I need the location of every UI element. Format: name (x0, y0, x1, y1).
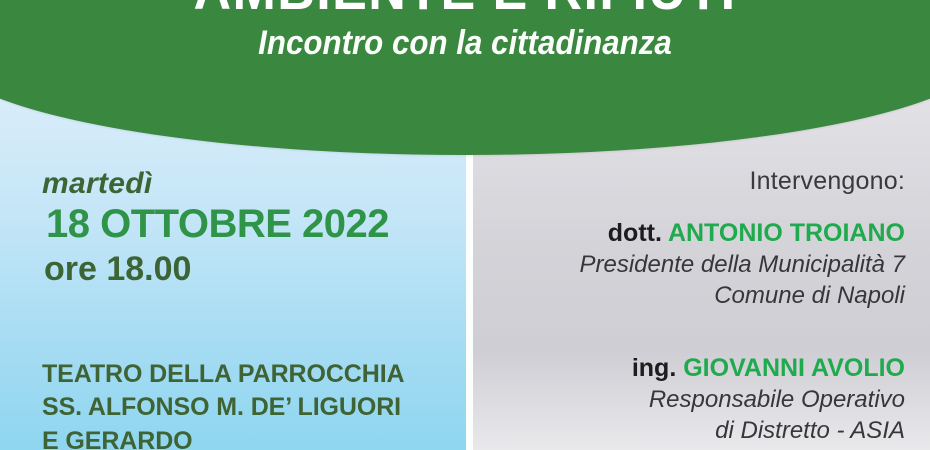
speaker-1-name-line: dott. ANTONIO TROIANO (480, 218, 905, 248)
poster-canvas: AMBIENTE E RIFIUTI Incontro con la citta… (0, 0, 930, 450)
speaker-2-name: GIOVANNI AVOLIO (683, 354, 905, 382)
green-header-banner: AMBIENTE E RIFIUTI Incontro con la citta… (0, 0, 930, 155)
speaker-1-prefix: dott. (608, 219, 662, 247)
poster-title: AMBIENTE E RIFIUTI (33, 0, 898, 18)
speaker-1-role-line-2: Comune di Napoli (480, 281, 905, 312)
speaker-2-role-line-1: Responsabile Operativo (480, 385, 905, 416)
venue-line-2: SS. ALFONSO M. DE’ LIGUORI (42, 391, 462, 424)
event-date: 18 OTTOBRE 2022 (46, 201, 452, 248)
speaker-1-role: Presidente della Municipalità 7 Comune d… (480, 250, 905, 311)
event-venue-block: TEATRO DELLA PARROCCHIA SS. ALFONSO M. D… (42, 358, 462, 450)
speaker-2-name-line: ing. GIOVANNI AVOLIO (480, 353, 905, 383)
event-weekday: martedì (42, 168, 452, 200)
speakers-heading: Intervengono: (480, 166, 905, 196)
header-text-group: AMBIENTE E RIFIUTI Incontro con la citta… (0, 0, 930, 155)
speaker-1-name: ANTONIO TROIANO (668, 219, 905, 247)
speaker-entry-2: ing. GIOVANNI AVOLIO Responsabile Operat… (480, 353, 905, 446)
speaker-1-role-line-1: Presidente della Municipalità 7 (480, 250, 905, 281)
event-datetime-block: martedì 18 OTTOBRE 2022 ore 18.00 (42, 168, 452, 288)
speaker-2-role: Responsabile Operativo di Distretto - AS… (480, 385, 905, 446)
speaker-2-role-line-2: di Distretto - ASIA (480, 416, 905, 447)
speaker-2-prefix: ing. (632, 354, 676, 382)
speakers-block: Intervengono: dott. ANTONIO TROIANO Pres… (480, 166, 905, 447)
event-time: ore 18.00 (44, 251, 452, 288)
venue-line-3: E GERARDO (42, 425, 462, 450)
speaker-entry-1: dott. ANTONIO TROIANO Presidente della M… (480, 218, 905, 311)
poster-subtitle: Incontro con la cittadinanza (37, 26, 893, 60)
venue-line-1: TEATRO DELLA PARROCCHIA (42, 358, 462, 391)
